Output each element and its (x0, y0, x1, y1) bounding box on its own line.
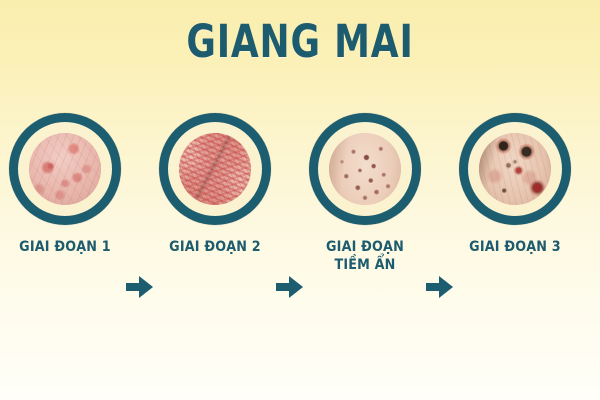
stage-sequence: GIAI ĐOẠN 1 GIAI ĐOẠN 2 (0, 110, 600, 310)
stage-3-ring (459, 113, 571, 225)
syphilis-stage-2-skin-photo (179, 133, 251, 205)
syphilis-stage-3-skin-photo (479, 133, 551, 205)
arrow-right-icon (126, 276, 154, 298)
page-title: GIANG MAI (60, 16, 540, 68)
arrow-right-icon (426, 276, 454, 298)
stage-item-1: GIAI ĐOẠN 1 (0, 110, 133, 310)
syphilis-stage-1-skin-photo (29, 133, 101, 205)
stage-1-label: GIAI ĐOẠN 1 (5, 238, 125, 256)
stage-1-ring (9, 113, 121, 225)
stage-3-label: GIAI ĐOẠN 3 (455, 238, 575, 256)
stage-2-ring (159, 113, 271, 225)
stage-latent-ring (309, 113, 421, 225)
stage-latent-label: GIAI ĐOẠN TIỀM ẨN (305, 238, 425, 274)
stage-2-label: GIAI ĐOẠN 2 (155, 238, 275, 256)
stage-item-2: GIAI ĐOẠN 2 (147, 110, 283, 310)
stage-latent-ring-gap (318, 122, 412, 216)
stage-item-3: GIAI ĐOẠN 3 (447, 110, 583, 310)
stage-3-ring-gap (468, 122, 562, 216)
stage-1-ring-gap (18, 122, 112, 216)
stage-item-latent: GIAI ĐOẠN TIỀM ẨN (297, 110, 433, 310)
stage-2-ring-gap (168, 122, 262, 216)
infographic-poster: GIANG MAI GIAI ĐOẠN 1 G (0, 0, 600, 400)
arrow-right-icon (276, 276, 304, 298)
syphilis-latent-stage-skin-photo (329, 133, 401, 205)
